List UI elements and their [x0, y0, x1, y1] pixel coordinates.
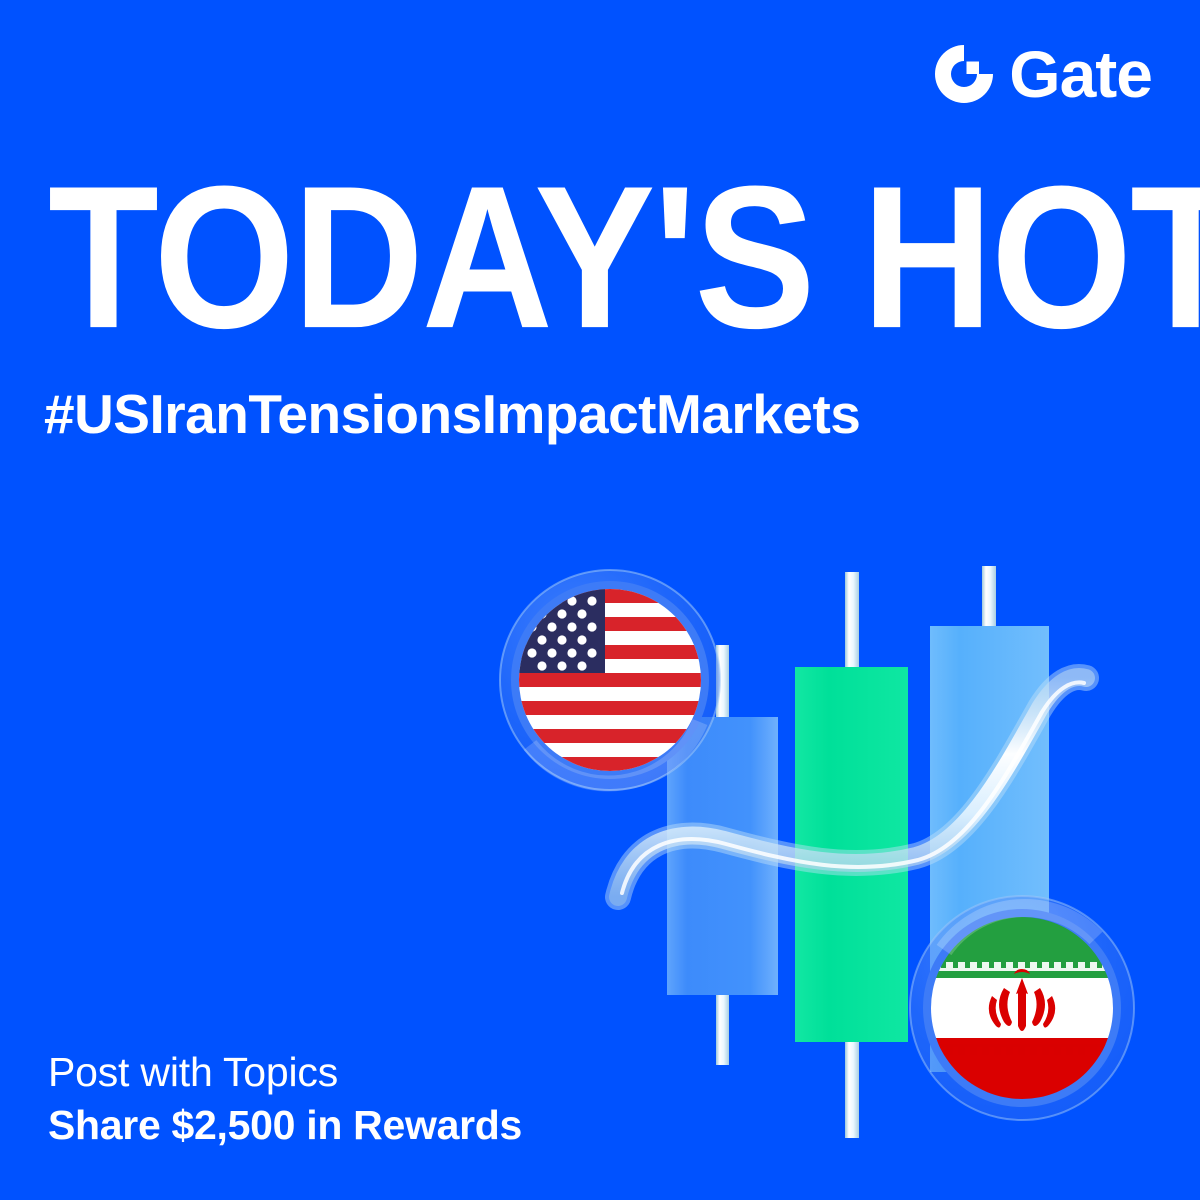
promo-poster: Gate TODAY'S HOT TOPIC #USIranTensionsIm…: [0, 0, 1200, 1200]
cta-line-2: Share $2,500 in Rewards: [48, 1098, 522, 1152]
brand-wordmark: Gate: [1009, 43, 1152, 105]
us-flag-badge: [500, 570, 720, 790]
hashtag-topic: #USIranTensionsImpactMarkets: [44, 383, 860, 445]
reward-callout: Post with Topics Share $2,500 in Rewards: [48, 1046, 522, 1152]
cta-line-1: Post with Topics: [48, 1046, 522, 1098]
brand-logo: Gate: [933, 38, 1152, 110]
page-title: TODAY'S HOT TOPIC: [48, 163, 1180, 351]
us-flag-icon: [519, 589, 701, 771]
iran-flag-badge: [910, 896, 1134, 1120]
gate-circle-notch-logo-icon: [933, 43, 995, 105]
